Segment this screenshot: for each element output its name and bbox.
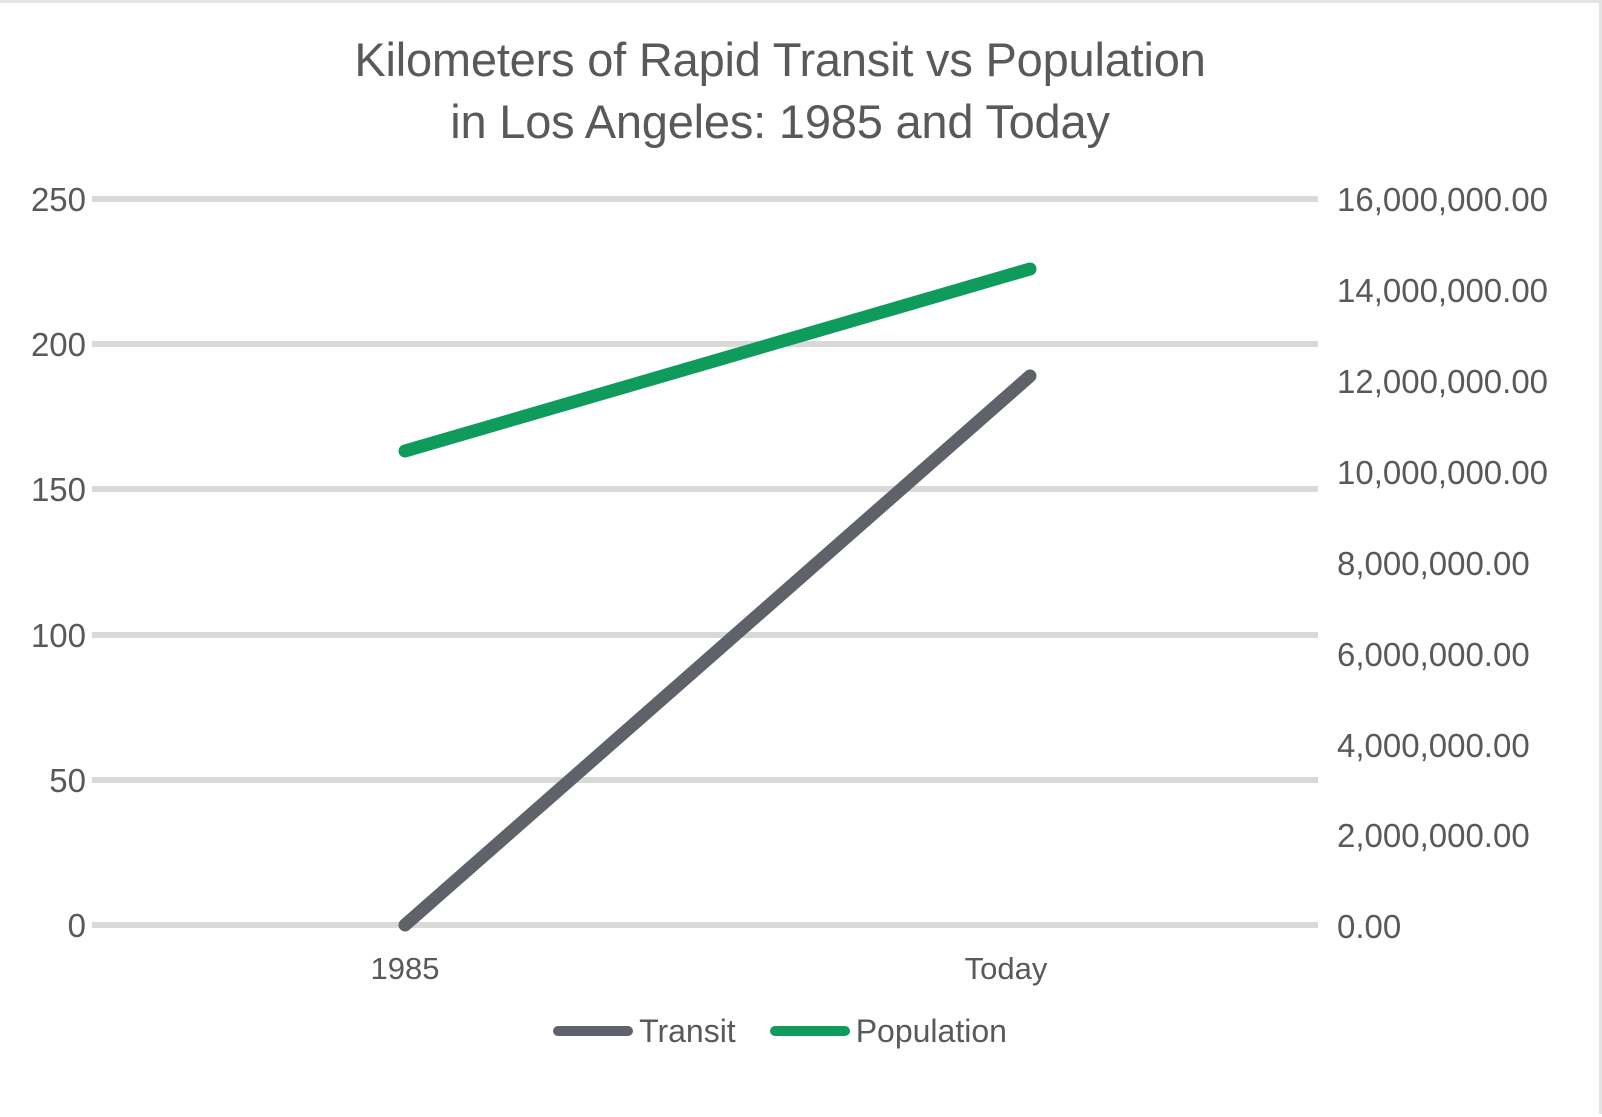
legend-label-population: Population — [856, 1015, 1007, 1047]
chart-container: Kilometers of Rapid Transit vs Populatio… — [0, 0, 1602, 1114]
legend-item-transit[interactable]: Transit — [553, 1015, 736, 1047]
legend-swatch-population-icon — [770, 1026, 850, 1036]
axis-tick-marks-left — [92, 199, 105, 925]
gridlines — [105, 199, 1302, 925]
series-line-transit — [405, 376, 1030, 925]
chart-legend: Transit Population — [0, 1015, 1560, 1047]
legend-item-population[interactable]: Population — [770, 1015, 1007, 1047]
series-line-population — [405, 269, 1030, 451]
plot-area — [0, 3, 1602, 1117]
legend-label-transit: Transit — [639, 1015, 736, 1047]
axis-tick-marks-right — [1302, 199, 1318, 925]
legend-swatch-transit-icon — [553, 1026, 633, 1036]
